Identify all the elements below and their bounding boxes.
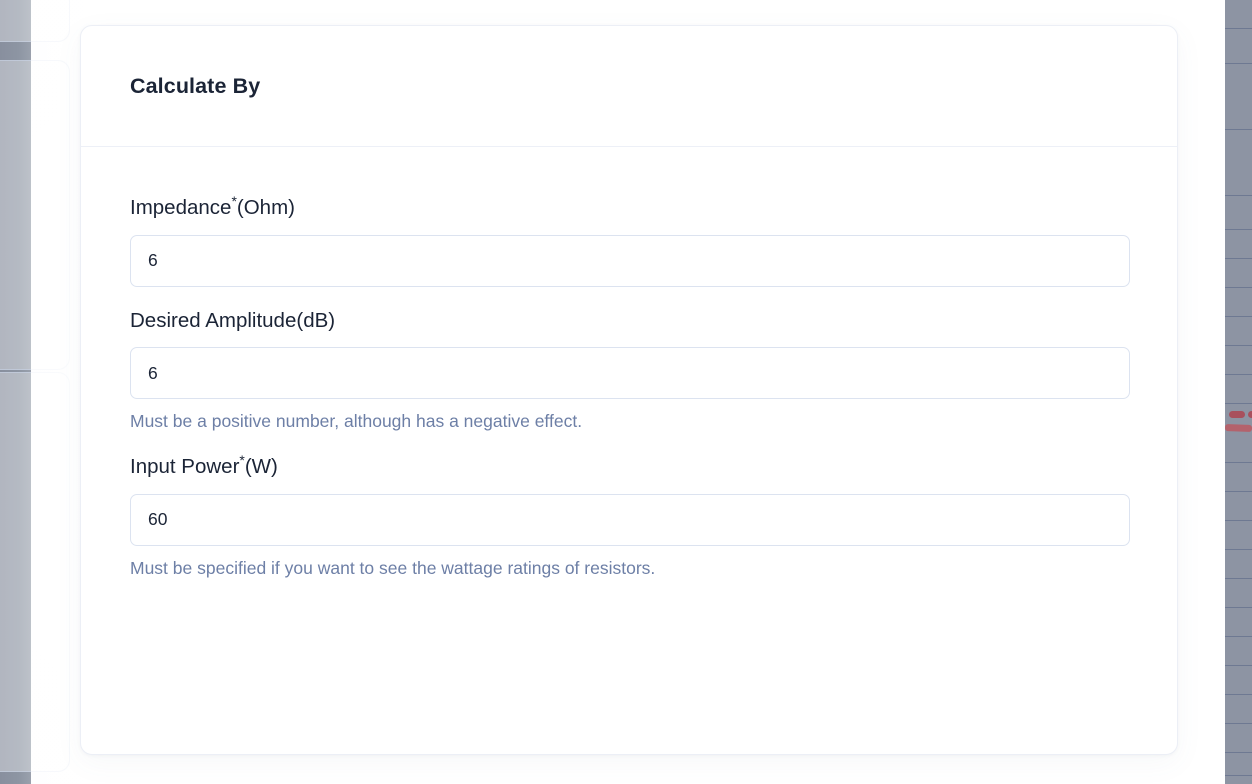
field-desired-amplitude: Desired Amplitude(dB) Must be a positive… (130, 309, 1128, 433)
field-impedance: Impedance*(Ohm) (130, 196, 1128, 287)
field-label-input-power: Input Power*(W) (130, 455, 1128, 480)
background-table-row-divider (1225, 723, 1252, 724)
input-power-input[interactable] (130, 494, 1130, 546)
background-table-row-divider (1225, 403, 1252, 404)
background-table-row-divider (1225, 28, 1252, 29)
field-label-unit: (W) (245, 455, 278, 478)
card-body: Impedance*(Ohm) Desired Amplitude(dB) Mu… (81, 147, 1177, 580)
background-table-row-divider (1225, 63, 1252, 64)
background-chart-line (1225, 424, 1252, 432)
background-table-row-divider (1225, 578, 1252, 579)
impedance-input[interactable] (130, 235, 1130, 287)
background-table-row-divider (1225, 752, 1252, 753)
background-chart-point (1248, 411, 1252, 418)
background-table-row-divider (1225, 665, 1252, 666)
page-title: Calculate By (130, 74, 260, 99)
background-table-row-divider (1225, 258, 1252, 259)
desired-amplitude-input[interactable] (130, 347, 1130, 399)
field-label-impedance: Impedance*(Ohm) (130, 196, 1128, 221)
background-table-row-divider (1225, 607, 1252, 608)
input-power-hint: Must be specified if you want to see the… (130, 558, 1128, 580)
background-table-row-divider (1225, 129, 1252, 130)
background-table-row-divider (1225, 694, 1252, 695)
field-label-unit: (Ohm) (237, 196, 295, 219)
card-header: Calculate By (81, 26, 1177, 147)
background-table-row-divider (1225, 636, 1252, 637)
field-label-text: Input Power (130, 455, 239, 478)
background-table-row-divider (1225, 195, 1252, 196)
desired-amplitude-hint: Must be a positive number, although has … (130, 411, 1128, 433)
field-input-power: Input Power*(W) Must be specified if you… (130, 455, 1128, 579)
field-label-text: Desired Amplitude (130, 309, 296, 332)
background-ghost-card (0, 60, 70, 370)
background-table-row-divider (1225, 549, 1252, 550)
background-ghost-card (0, 0, 70, 42)
background-table-row-divider (1225, 345, 1252, 346)
background-chart-point (1229, 411, 1245, 418)
background-table-row-divider (1225, 520, 1252, 521)
background-table-row-divider (1225, 374, 1252, 375)
field-label-text: Impedance (130, 196, 231, 219)
background-table-row-divider (1225, 462, 1252, 463)
background-table-row-divider (1225, 316, 1252, 317)
field-label-desired-amplitude: Desired Amplitude(dB) (130, 309, 1128, 334)
background-table-row-divider (1225, 229, 1252, 230)
calculate-by-card: Calculate By Impedance*(Ohm) Desired Amp… (80, 25, 1178, 755)
background-table-row-divider (1225, 287, 1252, 288)
field-label-unit: (dB) (296, 309, 335, 332)
background-table-row-divider (1225, 775, 1252, 776)
background-ghost-card (0, 372, 70, 772)
background-data-table (1225, 0, 1252, 784)
background-table-row-divider (1225, 491, 1252, 492)
